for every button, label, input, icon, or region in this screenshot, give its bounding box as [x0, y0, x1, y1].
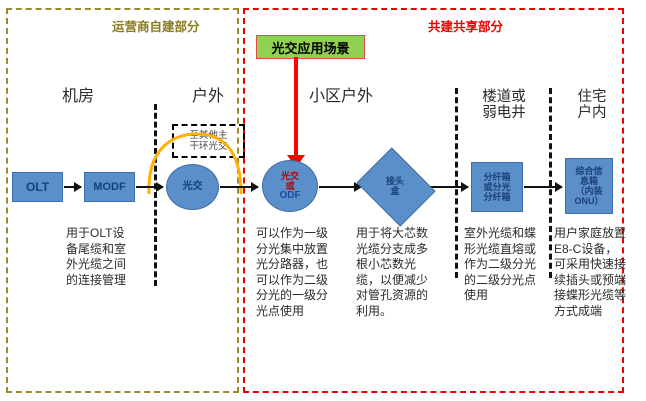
zone-separator-2 [455, 88, 458, 278]
node-olt[interactable]: OLT [12, 172, 63, 202]
callout-arrow-shaft [294, 57, 298, 161]
zone-separator-3 [549, 88, 552, 278]
connector-fxx-zhx [524, 186, 562, 188]
zone-title-home: 住宅 户内 [562, 89, 622, 121]
region-operator-label: 运营商自建部分 [112, 16, 200, 35]
node-splice-closure[interactable]: 接头 盒 [365, 162, 425, 210]
node-jtx-line2: 盒 [386, 186, 404, 196]
zone-title-outdoor: 户外 [178, 89, 238, 105]
connector-gj-odf [220, 186, 258, 188]
node-fxx-line1: 分纤箱 [483, 172, 510, 182]
node-modf[interactable]: MODF [84, 172, 135, 202]
callout-box-optical-scenario: 光交应用场景 [256, 35, 365, 59]
node-zhx-line2: 息箱 [575, 176, 604, 186]
zone-title-community-outdoor: 小区户外 [296, 89, 386, 105]
diagram-canvas: 运营商自建部分 共建共享部分 机房 户外 小区户外 楼道或 弱电井 住宅 户内 … [0, 0, 646, 401]
node-fxx-line2: 或分光 [483, 182, 510, 192]
note-box-other-trunk-ring: 至其他主 干环光交 [172, 124, 245, 158]
zone-title-corridor-line1: 楼道或 [466, 89, 542, 105]
node-integrated-info-box[interactable]: 综合信 息箱 （内装 ONU） [565, 158, 613, 214]
zone-title-home-line2: 户内 [562, 105, 622, 121]
note-box-line1: 至其他主 [189, 130, 227, 141]
node-fxx-line3: 分纤箱 [483, 192, 510, 202]
caption-zhx: 用户家庭放置E8-C设备，可采用快速接续插头或预端接蝶形光缆等方式成端 [554, 226, 628, 319]
node-zhx-line1: 综合信 [575, 166, 604, 176]
note-box-line2: 干环光交 [189, 141, 227, 152]
zone-title-corridor: 楼道或 弱电井 [466, 89, 542, 121]
zone-separator-1 [154, 104, 157, 286]
caption-jtx: 用于将大芯数光缆分支成多根小芯数光缆，以便减少对管孔资源的利用。 [356, 226, 428, 319]
caption-modf: 用于OLT设备尾缆和室外光缆之间的连接管理 [66, 226, 126, 288]
node-odf-line1: 光交 [279, 171, 300, 181]
zone-title-corridor-line2: 弱电井 [466, 105, 542, 121]
connector-olt-modf [64, 186, 81, 188]
node-odf-line3: ODF [279, 191, 300, 201]
node-jtx-line1: 接头 [386, 176, 404, 186]
caption-odf: 可以作为一级分光集中放置光分路器，也可以作为二级分光的一级分光点使用 [256, 226, 328, 319]
node-fiber-distribution-box[interactable]: 分纤箱 或分光 分纤箱 [471, 162, 523, 212]
connector-modf-gj [136, 186, 163, 188]
connector-odf-jtx [319, 186, 361, 188]
node-zhx-line4: ONU） [575, 196, 604, 206]
node-odf[interactable]: 光交 或 ODF [262, 160, 318, 212]
node-zhx-line3: （内装 [575, 186, 604, 196]
caption-fxx: 室外光缆和蝶形光缆直熔或作为二级分光的二级分光点使用 [464, 226, 536, 304]
node-optical-cross-connect[interactable]: 光交 [166, 164, 219, 210]
zone-title-home-line1: 住宅 [562, 89, 622, 105]
zone-title-equipment-room: 机房 [38, 89, 118, 105]
region-shared-label: 共建共享部分 [428, 16, 503, 35]
